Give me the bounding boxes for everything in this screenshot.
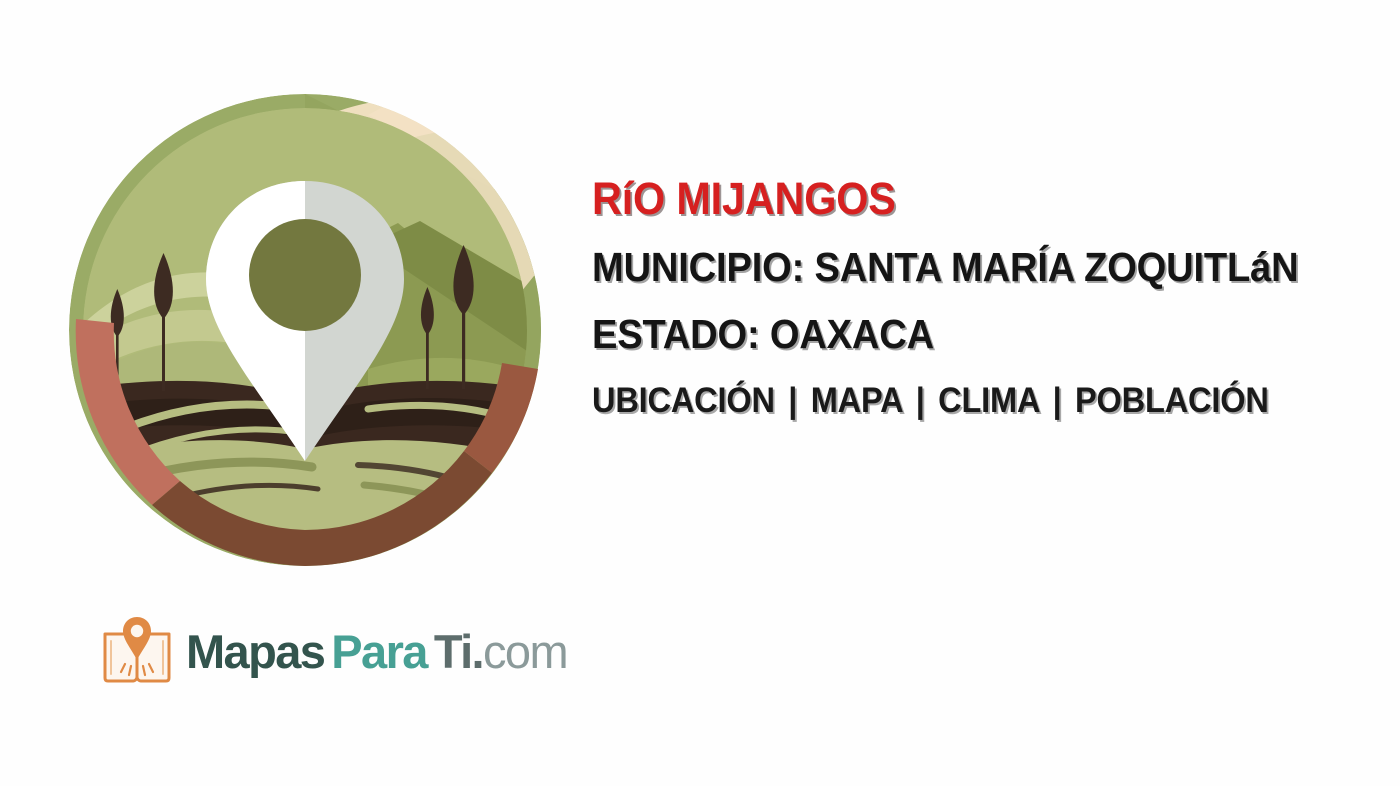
page-root: RíO MIJANGOS MUNICIPIO: SANTA MARÍA ZOQU… — [0, 0, 1400, 786]
section-nav: UBICACIÓN | MAPA | CLIMA | POBLACIÓN — [592, 383, 1355, 418]
location-info-block: RíO MIJANGOS MUNICIPIO: SANTA MARÍA ZOQU… — [592, 176, 1400, 418]
brand-part-ti: Ti. — [434, 625, 483, 678]
page-title: RíO MIJANGOS — [592, 176, 1346, 221]
nav-separator: | — [784, 381, 802, 420]
municipio-line: MUNICIPIO: SANTA MARÍA ZOQUITLáN — [592, 247, 1355, 288]
brand-wordmark: MapasParaTi.com — [186, 628, 567, 675]
nav-item-ubicacion[interactable]: UBICACIÓN — [592, 381, 775, 420]
estado-line: ESTADO: OAXACA — [592, 314, 1355, 355]
nav-separator: | — [1048, 381, 1066, 420]
brand-part-para: Para — [331, 625, 427, 678]
landscape-emblem — [68, 93, 542, 567]
nav-separator: | — [911, 381, 929, 420]
open-book-map-pin-icon — [100, 616, 174, 686]
nav-item-poblacion[interactable]: POBLACIÓN — [1075, 381, 1269, 420]
nav-item-clima[interactable]: CLIMA — [938, 381, 1039, 420]
brand-logo[interactable]: MapasParaTi.com — [100, 616, 567, 686]
nav-item-mapa[interactable]: MAPA — [811, 381, 902, 420]
brand-part-mapas: Mapas — [186, 625, 324, 678]
brand-part-com: com — [483, 625, 567, 678]
